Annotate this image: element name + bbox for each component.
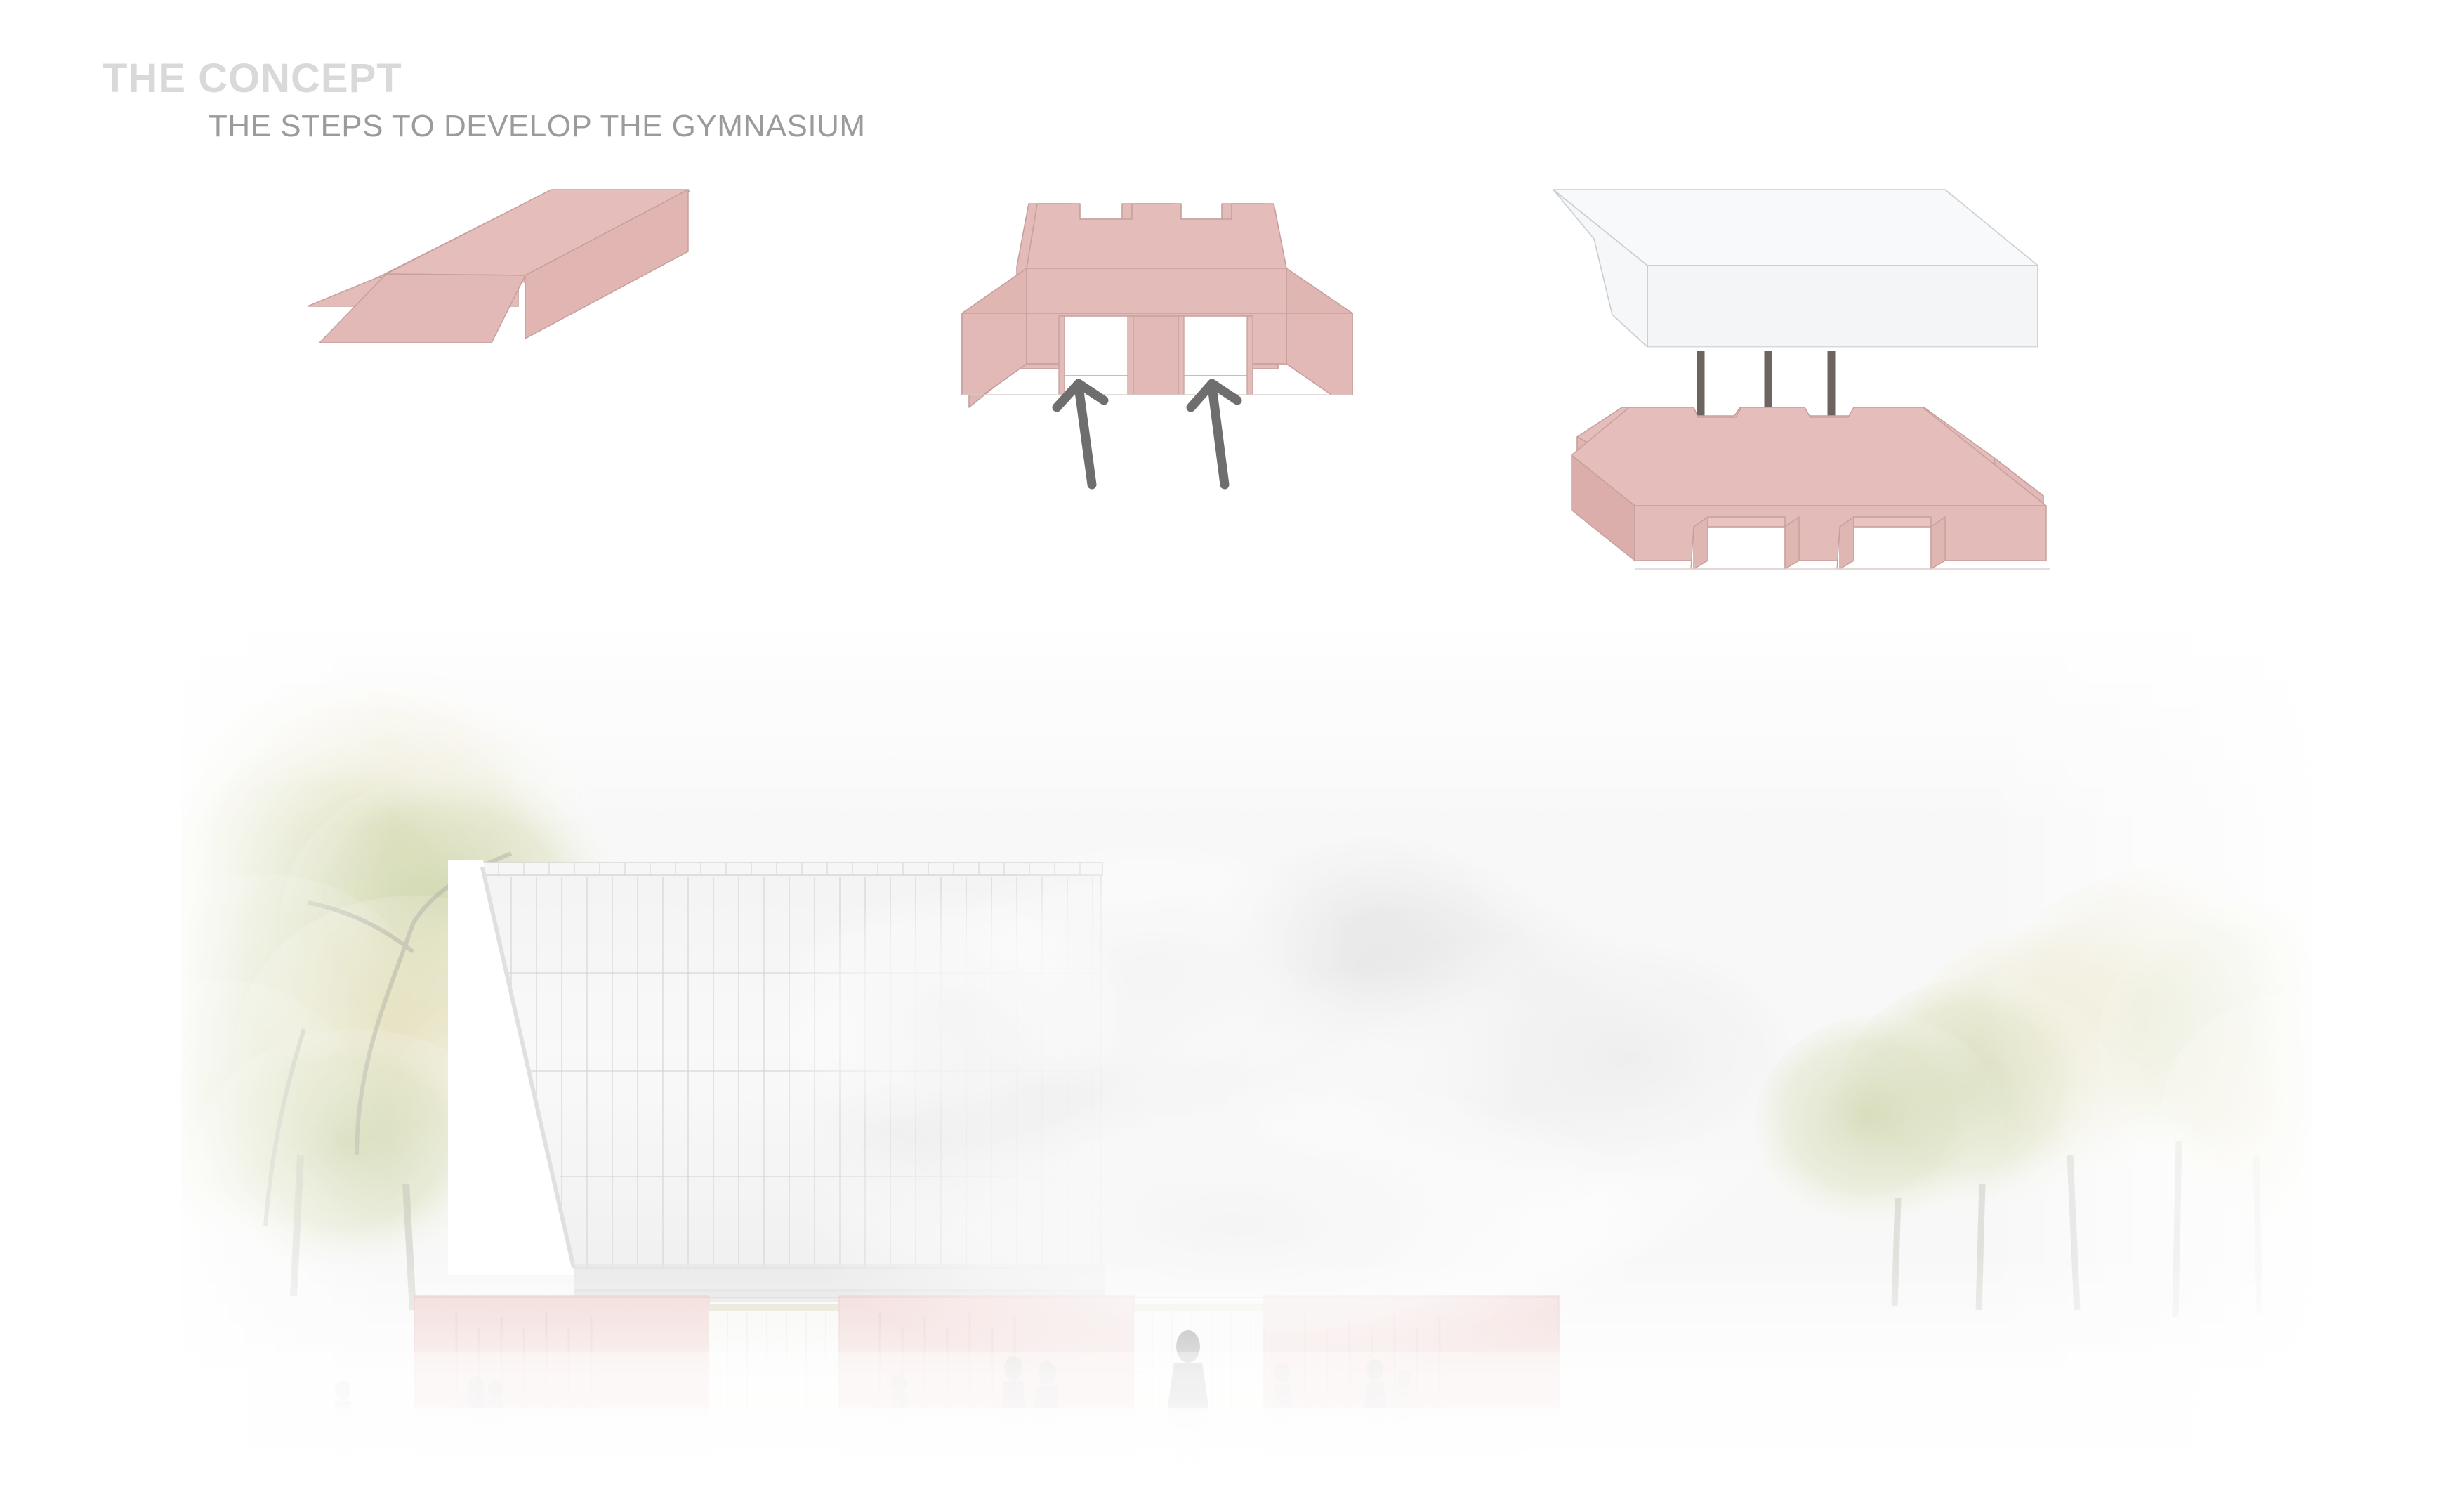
title-block: THE CONCEPT THE STEPS TO DEVELOP THE GYM… [0, 0, 2464, 183]
gymnasium-elevation-render [181, 622, 2312, 1494]
up-arrow-left [1057, 384, 1104, 485]
cloud-volume [1553, 190, 2038, 348]
up-arrow-right [1191, 384, 1237, 485]
page-subtitle: THE STEPS TO DEVELOP THE GYMNASIUM [209, 109, 866, 144]
page-title: THE CONCEPT [103, 55, 402, 102]
axonometric-solid-slab-icon [302, 176, 899, 653]
render-canvas [181, 622, 2312, 1494]
